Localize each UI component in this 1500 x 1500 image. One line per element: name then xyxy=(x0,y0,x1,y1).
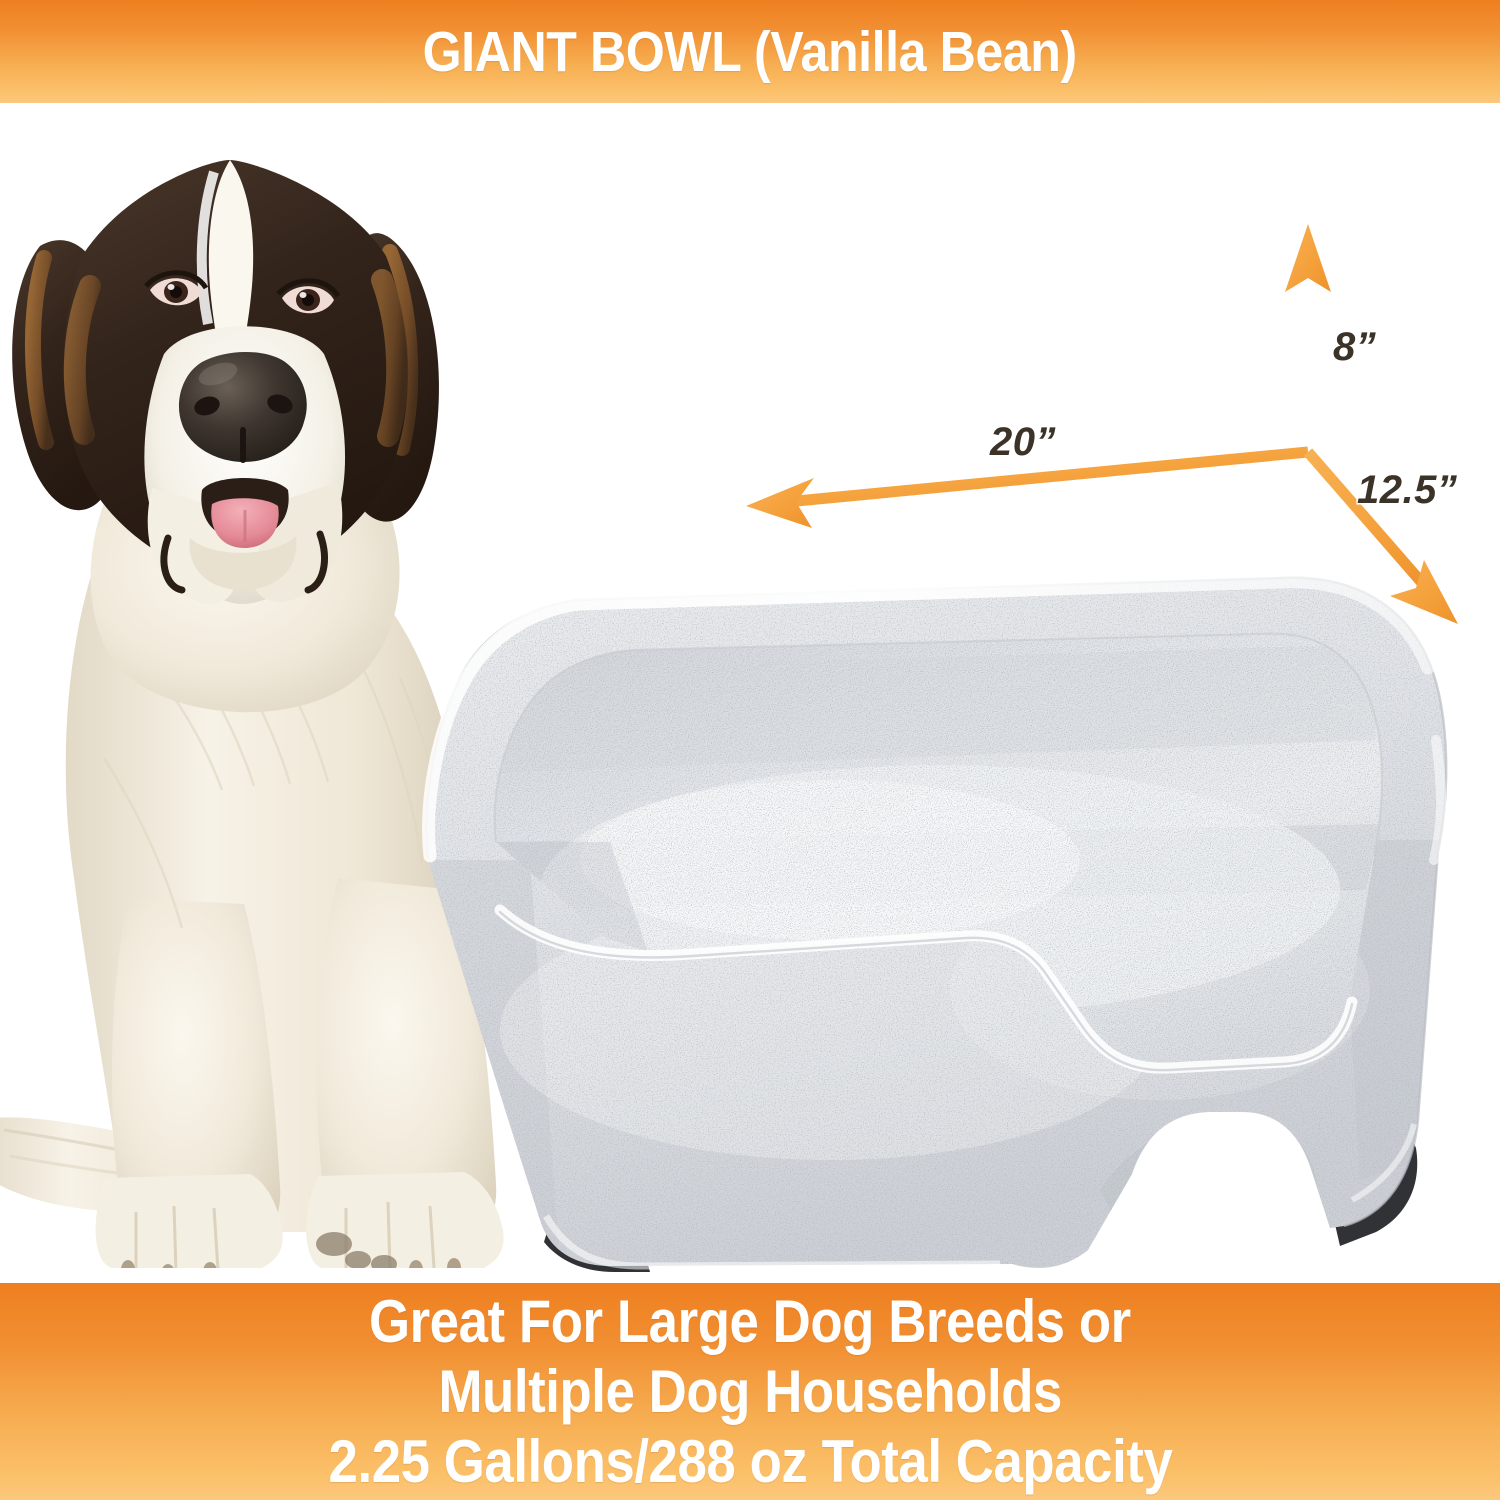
dog-paw-left xyxy=(96,1174,283,1268)
dog-ear-right xyxy=(336,233,439,521)
header-banner: GIANT BOWL (Vanilla Bean) xyxy=(0,0,1500,103)
footer-banner: Great For Large Dog Breeds or Multiple D… xyxy=(0,1283,1500,1500)
dog-ear-left xyxy=(12,240,123,510)
footer-line-1: Great For Large Dog Breeds or xyxy=(369,1287,1131,1357)
footer-line-3: 2.25 Gallons/288 oz Total Capacity xyxy=(328,1427,1172,1497)
dog-head-mask xyxy=(63,160,407,582)
dog-tongue xyxy=(211,498,278,548)
dog-head-group xyxy=(12,160,439,712)
dog-paw-pads xyxy=(316,1232,397,1268)
dog-eye-right xyxy=(278,281,338,314)
product-marketing-image: GIANT BOWL (Vanilla Bean) xyxy=(0,0,1500,1500)
dimension-label-height: 8” xyxy=(1333,325,1376,370)
dog-muzzle xyxy=(144,326,345,604)
dog-neck-ruff xyxy=(91,467,400,713)
dog-mouth xyxy=(201,478,288,540)
dog-leg-left xyxy=(112,898,280,1240)
dog-eye-left xyxy=(146,273,206,306)
dog-blaze xyxy=(209,160,253,396)
height-dimension-arrow xyxy=(1285,224,1331,452)
page-title: GIANT BOWL (Vanilla Bean) xyxy=(423,19,1077,85)
dimension-label-depth: 12.5” xyxy=(1357,468,1457,513)
dog-nose xyxy=(179,352,307,462)
footer-line-2: Multiple Dog Households xyxy=(438,1357,1061,1427)
dimension-diagram xyxy=(730,210,1500,660)
giant-dog-bowl xyxy=(400,560,1470,1275)
dog-tail xyxy=(0,1117,248,1211)
dimension-label-width: 20” xyxy=(990,420,1056,465)
